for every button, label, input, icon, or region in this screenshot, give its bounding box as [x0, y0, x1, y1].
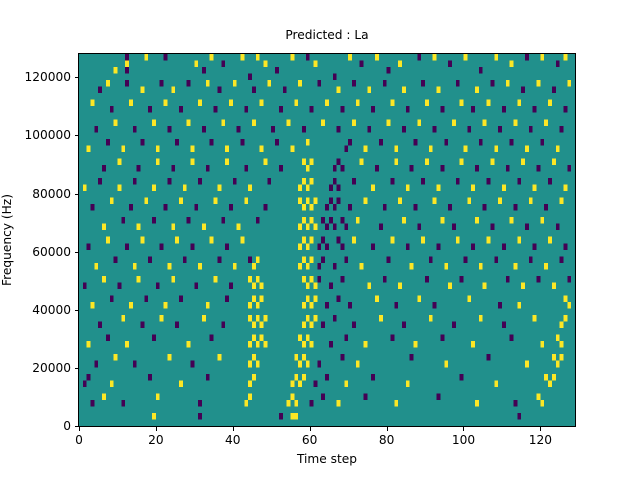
x-tick-mark — [79, 427, 80, 431]
y-tick-label: 20000 — [32, 361, 71, 375]
x-tick-label: 80 — [379, 433, 395, 447]
chart-title: Predicted : La — [78, 28, 576, 42]
heatmap-image — [79, 54, 575, 426]
y-tick-label: 0 — [63, 419, 71, 433]
matplotlib-figure: Predicted : La Frequency (Hz) Time step … — [0, 0, 640, 480]
x-tick-mark — [387, 427, 388, 431]
x-tick-label: 20 — [148, 433, 164, 447]
x-tick-label: 40 — [225, 433, 241, 447]
y-tick-label: 60000 — [32, 245, 71, 259]
y-tick-label: 120000 — [24, 70, 71, 84]
x-tick-label: 120 — [529, 433, 552, 447]
x-tick-mark — [156, 427, 157, 431]
x-tick-mark — [310, 427, 311, 431]
heatmap-plot-area — [78, 53, 576, 427]
x-tick-mark — [540, 427, 541, 431]
y-tick-label: 100000 — [24, 128, 71, 142]
y-tick-label: 40000 — [32, 303, 71, 317]
y-tick-label: 80000 — [32, 187, 71, 201]
x-tick-label: 0 — [75, 433, 83, 447]
x-axis-label: Time step — [78, 452, 576, 466]
x-tick-mark — [463, 427, 464, 431]
x-tick-label: 60 — [302, 433, 318, 447]
x-tick-label: 100 — [452, 433, 475, 447]
y-axis-label: Frequency (Hz) — [0, 194, 14, 286]
x-tick-mark — [233, 427, 234, 431]
